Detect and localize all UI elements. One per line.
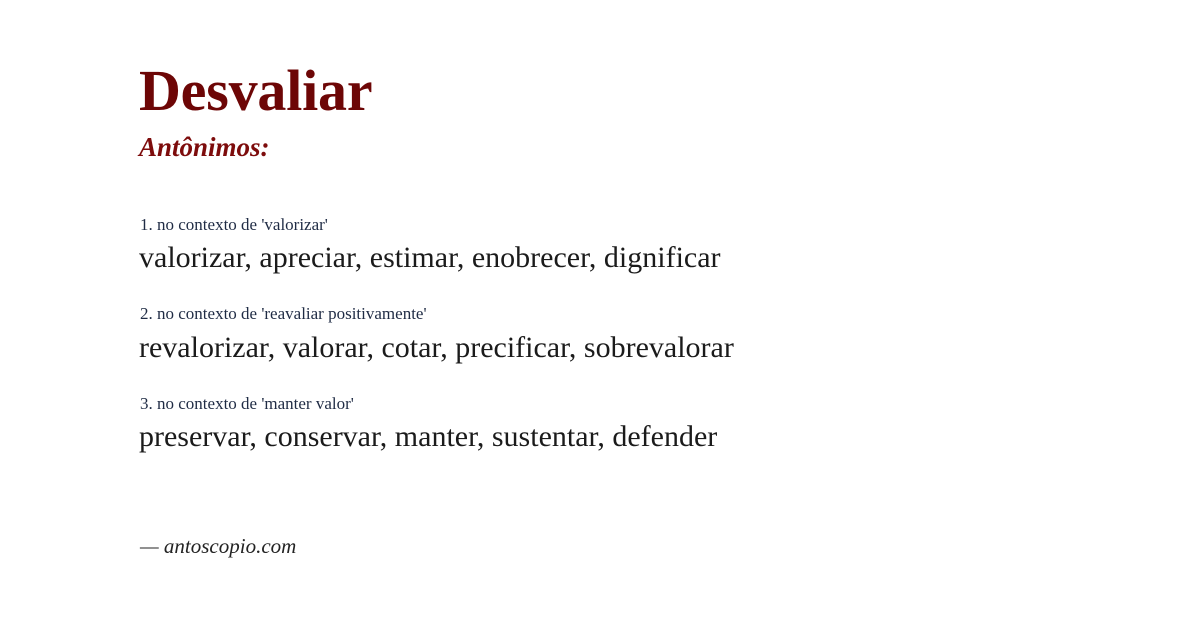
sense-block: 3. no contexto de 'manter valor' preserv… [139, 393, 1139, 456]
sense-context-label: 2. no contexto de 'reavaliar positivamen… [140, 303, 1139, 324]
sense-list: 1. no contexto de 'valorizar' valorizar,… [139, 214, 1139, 456]
sense-block: 2. no contexto de 'reavaliar positivamen… [139, 303, 1139, 366]
entry-subtitle: Antônimos: [139, 134, 1139, 161]
sense-block: 1. no contexto de 'valorizar' valorizar,… [139, 214, 1139, 277]
sense-antonyms: revalorizar, valorar, cotar, precificar,… [139, 328, 1139, 367]
thesaurus-entry-card: Desvaliar Antônimos: 1. no contexto de '… [0, 0, 1200, 628]
sense-antonyms: preservar, conservar, manter, sustentar,… [139, 417, 1139, 456]
sense-context-label: 3. no contexto de 'manter valor' [140, 393, 1139, 414]
page-title: Desvaliar [139, 62, 1139, 120]
sense-antonyms: valorizar, apreciar, estimar, enobrecer,… [139, 238, 1139, 277]
entry-content: Desvaliar Antônimos: 1. no contexto de '… [139, 62, 1139, 456]
source-attribution: — antoscopio.com [140, 534, 296, 559]
sense-context-label: 1. no contexto de 'valorizar' [140, 214, 1139, 235]
